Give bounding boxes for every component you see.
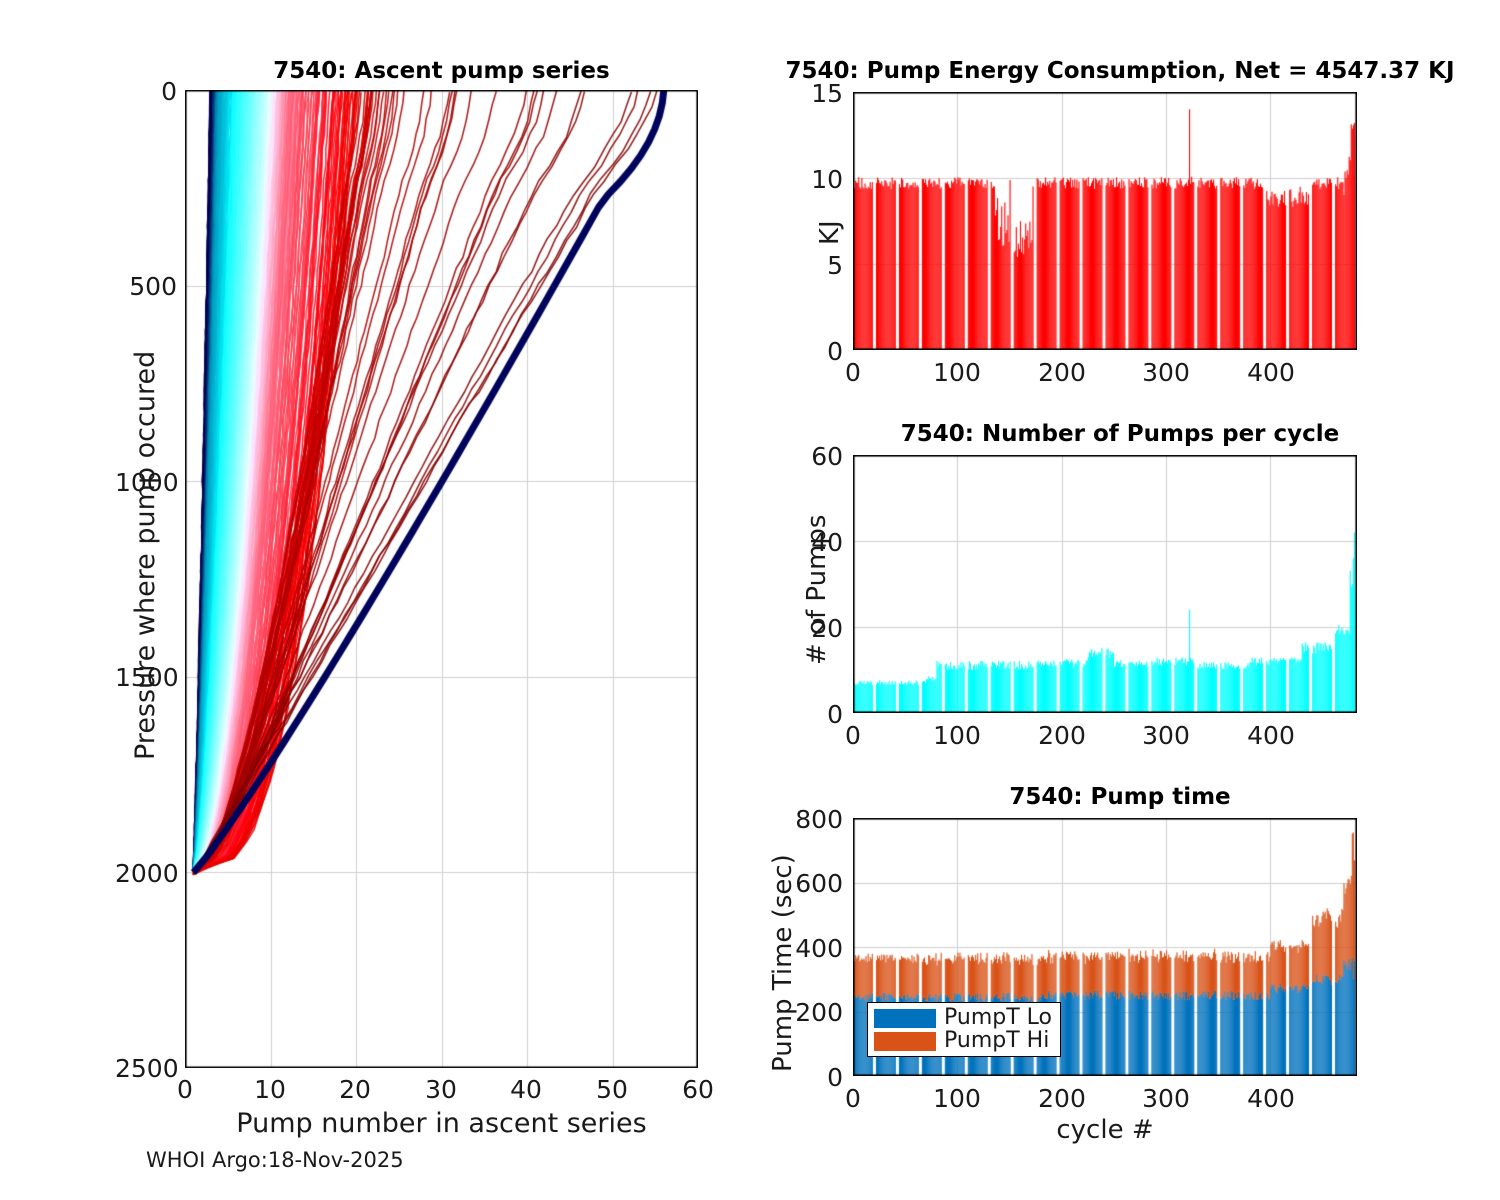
legend-label-pumpt-lo: PumpT Lo (944, 1008, 1052, 1028)
ascent-ytick-500: 500 (115, 272, 177, 301)
number-of-pumps-plot (853, 455, 1357, 713)
pumps-xtick-200: 200 (1032, 721, 1092, 750)
legend-label-pumpt-hi: PumpT Hi (944, 1031, 1049, 1051)
energy-ytick-5: 5 (795, 251, 843, 280)
energy-ytick-10: 10 (795, 165, 843, 194)
pumps-xtick-400: 400 (1241, 721, 1301, 750)
number-of-pumps-title: 7540: Number of Pumps per cycle (750, 421, 1490, 447)
ptime-xtick-0: 0 (823, 1084, 883, 1113)
ascent-xtick-50: 50 (582, 1075, 642, 1104)
energy-xtick-100: 100 (927, 358, 987, 387)
pump-time-panel: 7540: Pump time 0 200 400 600 800 0 100 … (740, 760, 1500, 1200)
number-of-pumps-panel: 7540: Number of Pumps per cycle 0 20 40 … (740, 400, 1500, 760)
ascent-xtick-0: 0 (155, 1075, 215, 1104)
legend-swatch-pumpt-hi (874, 1032, 936, 1051)
figure-footer: WHOI Argo:18-Nov-2025 (146, 1148, 404, 1172)
pumps-yaxis-label: # of Pumps (802, 515, 832, 665)
pumps-xtick-100: 100 (927, 721, 987, 750)
ptime-xtick-200: 200 (1032, 1084, 1092, 1113)
ptime-yaxis-label: Pump Time (sec) (768, 854, 798, 1072)
energy-yaxis-label: KJ (815, 220, 845, 245)
pump-energy-plot (853, 92, 1357, 350)
ascent-xtick-40: 40 (496, 1075, 556, 1104)
pumps-xtick-0: 0 (823, 721, 883, 750)
ptime-ytick-800: 800 (775, 805, 843, 834)
ascent-pump-series-title: 7540: Ascent pump series (185, 58, 698, 84)
pump-energy-title: 7540: Pump Energy Consumption, Net = 454… (750, 58, 1490, 84)
ptime-xtick-100: 100 (927, 1084, 987, 1113)
pump-time-legend: PumpT Lo PumpT Hi (867, 1002, 1061, 1057)
ascent-pump-series-panel: 7540: Ascent pump series 0 500 1000 1500… (0, 0, 740, 1200)
ptime-xaxis-label: cycle # (853, 1115, 1357, 1145)
pumps-ytick-60: 60 (785, 442, 843, 471)
pump-energy-panel: 7540: Pump Energy Consumption, Net = 454… (740, 0, 1500, 400)
energy-ytick-15: 15 (795, 79, 843, 108)
ascent-xtick-20: 20 (325, 1075, 385, 1104)
ascent-ytick-2000: 2000 (115, 859, 177, 888)
energy-xtick-400: 400 (1241, 358, 1301, 387)
legend-swatch-pumpt-lo (874, 1009, 936, 1028)
ascent-ytick-0: 0 (115, 77, 177, 106)
pump-time-title: 7540: Pump time (750, 784, 1490, 810)
legend-item-pumpt-lo: PumpT Lo (874, 1008, 1052, 1028)
ascent-xaxis-label: Pump number in ascent series (185, 1108, 698, 1139)
ascent-yaxis-label: Pressure where pump occured (130, 351, 161, 760)
ptime-xtick-300: 300 (1136, 1084, 1196, 1113)
energy-xtick-0: 0 (823, 358, 883, 387)
ascent-xtick-30: 30 (411, 1075, 471, 1104)
energy-xtick-300: 300 (1136, 358, 1196, 387)
ptime-xtick-400: 400 (1241, 1084, 1301, 1113)
ascent-pump-series-plot (185, 90, 698, 1068)
pumps-xtick-300: 300 (1136, 721, 1196, 750)
legend-item-pumpt-hi: PumpT Hi (874, 1031, 1052, 1051)
ascent-xtick-60: 60 (668, 1075, 728, 1104)
energy-xtick-200: 200 (1032, 358, 1092, 387)
ascent-xtick-10: 10 (240, 1075, 300, 1104)
